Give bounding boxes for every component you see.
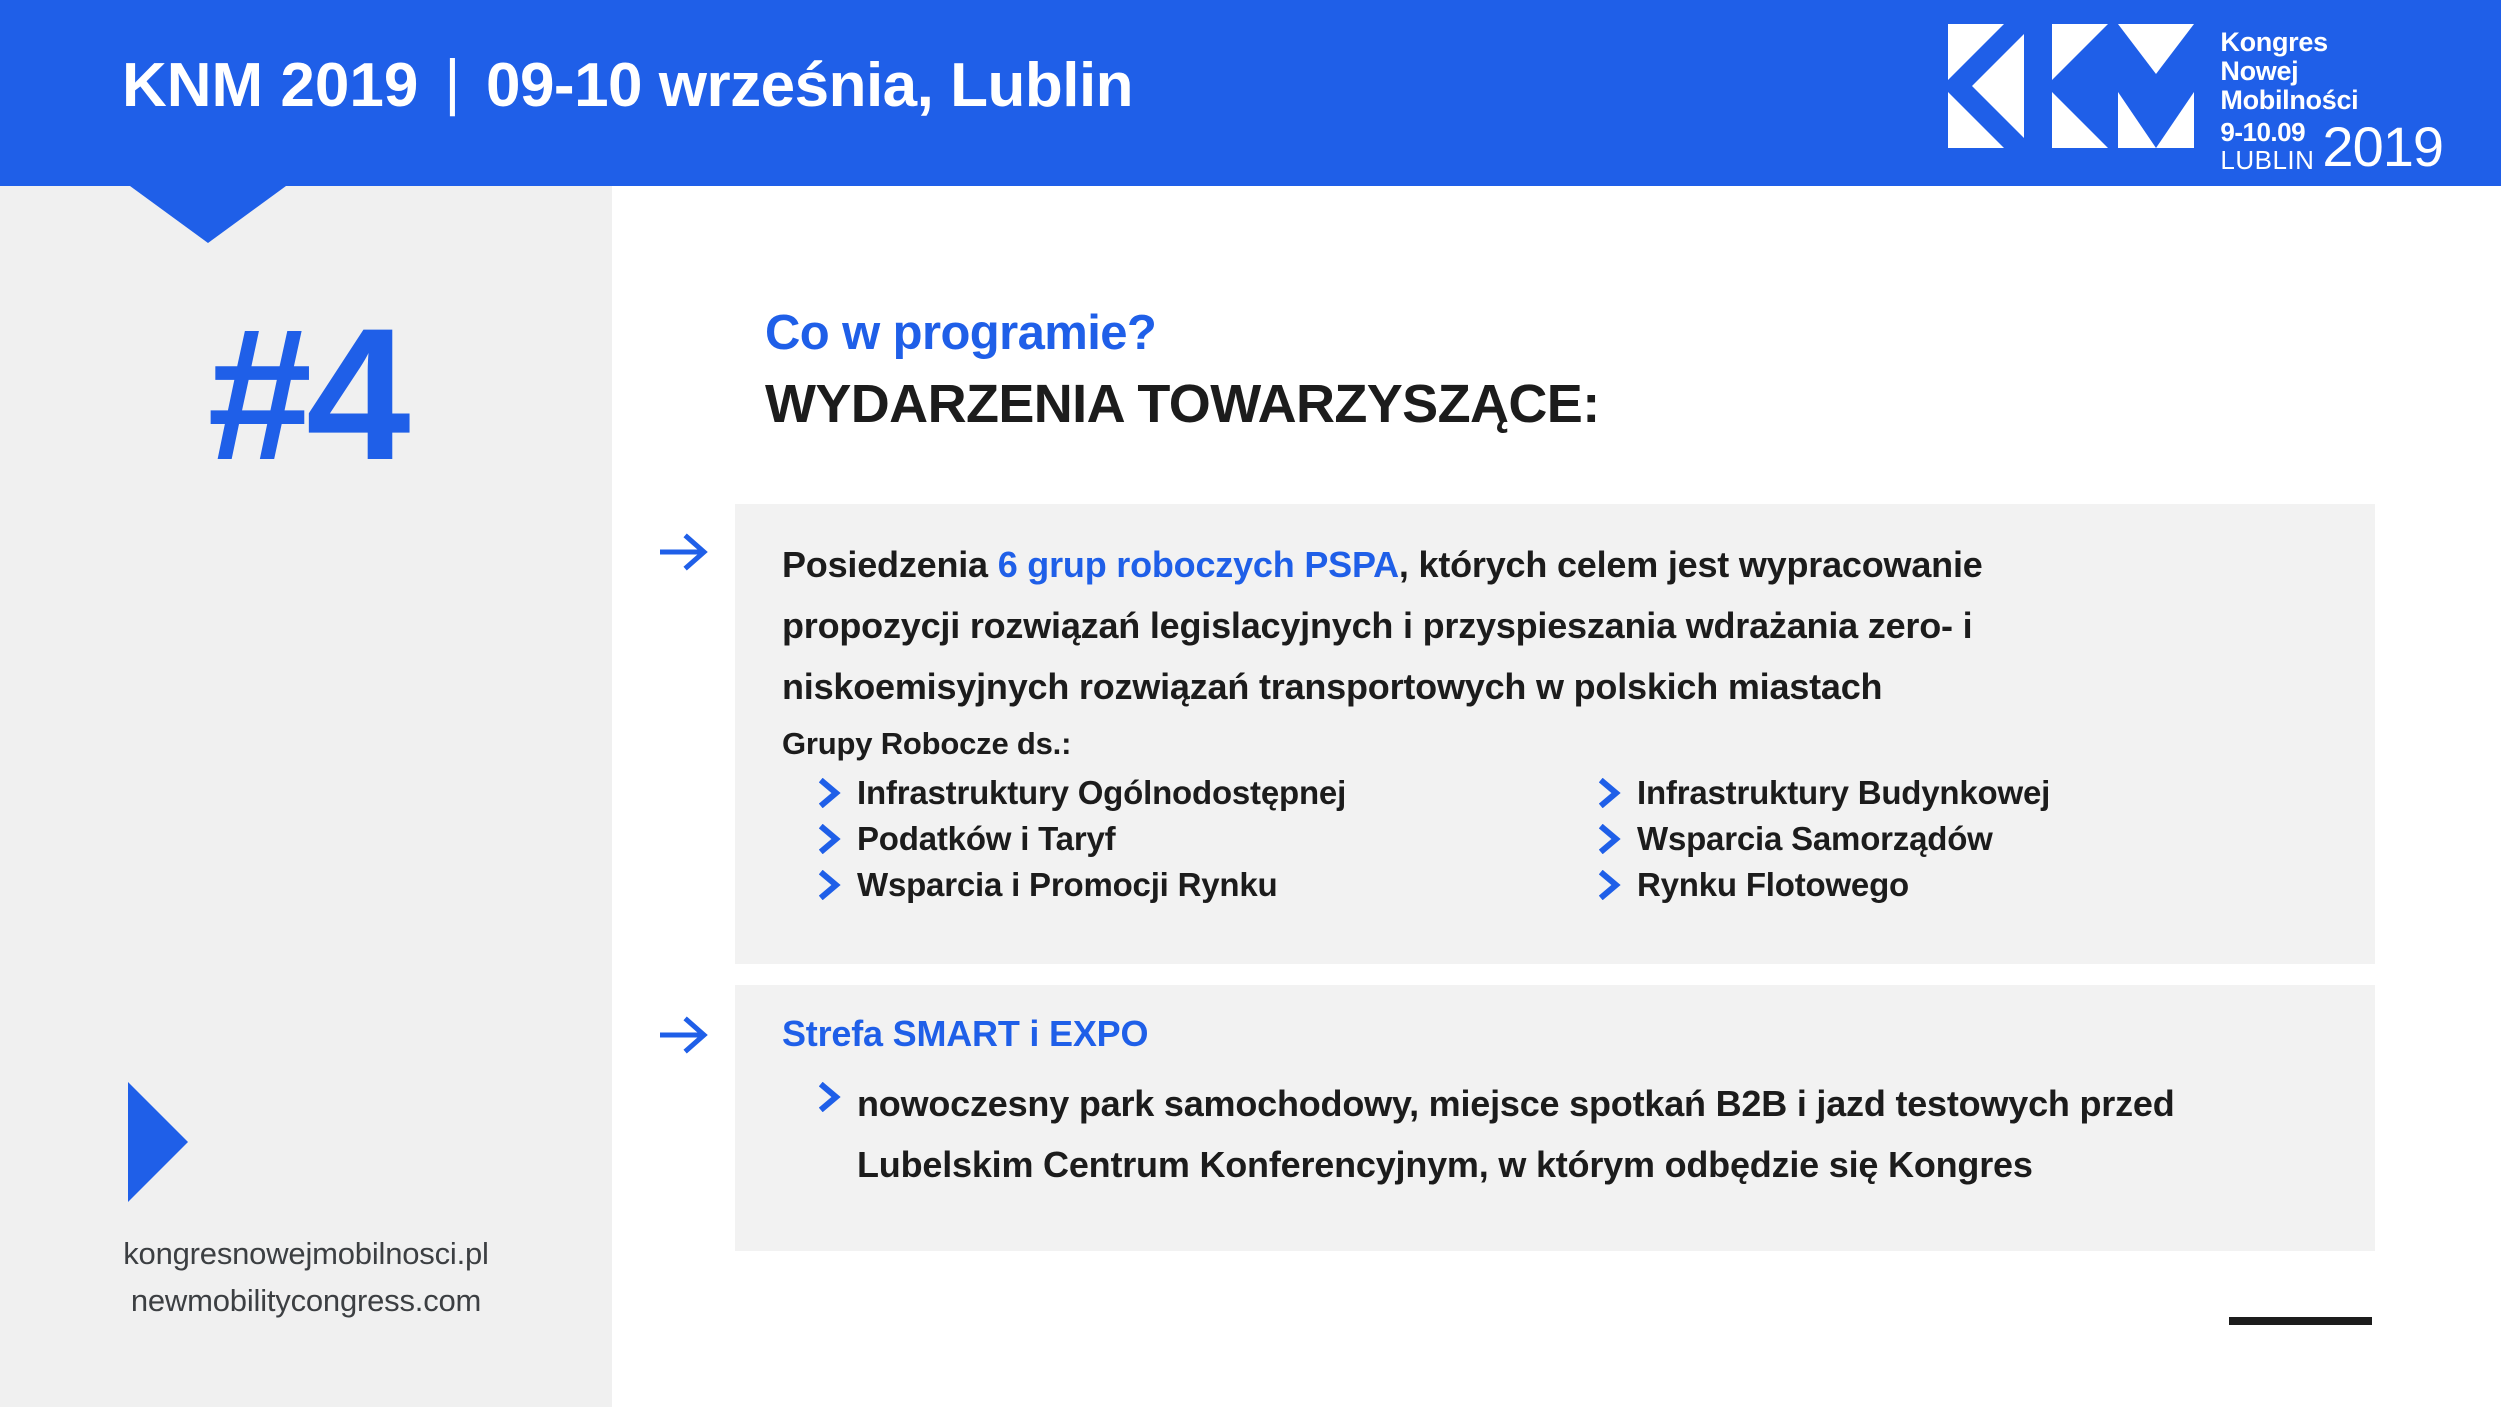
logo-m-bottom-right-triangle [2156, 92, 2194, 148]
sidebar-links: kongresnowejmobilnosci.pl newmobilitycon… [0, 1230, 612, 1324]
chevron-right-icon [813, 818, 847, 854]
logo-n-bottom-triangle [2052, 92, 2108, 148]
bottom-rule [2229, 1317, 2372, 1325]
panel1-lead-paragraph: Posiedzenia 6 grup roboczych PSPA, który… [782, 534, 2142, 717]
website-link-en[interactable]: newmobilitycongress.com [0, 1277, 612, 1324]
list-item: Infrastruktury Ogólnodostępnej [813, 772, 1553, 818]
panel-smart-expo: Strefa SMART i EXPO nowoczesny park samo… [735, 985, 2375, 1251]
list-item: Rynku Flotowego [1593, 864, 2333, 910]
groups-grid: Infrastruktury Ogólnodostępnej Infrastru… [813, 772, 2333, 910]
logo-wordmark: Kongres Nowej Mobilności 9-10.09 LUBLIN … [2220, 24, 2443, 173]
chevron-right-icon [813, 864, 847, 900]
header-bar: KNM 2019|09-10 września, Lublin Kongres … [0, 0, 2501, 186]
group-label: Wsparcia i Promocji Rynku [857, 864, 1277, 906]
header-dates-location: 09-10 września, Lublin [486, 51, 1133, 120]
logo-year: 2019 [2322, 121, 2443, 173]
logo-date: 9-10.09 [2220, 119, 2314, 145]
panel2-heading: Strefa SMART i EXPO [782, 1013, 1148, 1055]
sidebar-panel [0, 0, 612, 1407]
slide-number: #4 [0, 300, 612, 488]
website-link-pl[interactable]: kongresnowejmobilnosci.pl [0, 1230, 612, 1277]
arrow-right-icon [658, 1015, 710, 1055]
chevron-right-icon [1593, 818, 1627, 854]
list-item: Wsparcia Samorządów [1593, 818, 2333, 864]
logo-date-city: 9-10.09 LUBLIN [2220, 119, 2314, 173]
logo-n-top-triangle [2052, 24, 2108, 80]
logo-m-top-triangle [2118, 24, 2194, 74]
lead-highlight: 6 grup roboczych PSPA [998, 544, 1399, 585]
panel-working-groups: Posiedzenia 6 grup roboczych PSPA, który… [735, 504, 2375, 964]
group-label: Infrastruktury Ogólnodostępnej [857, 772, 1346, 814]
content-title-block: Co w programie? WYDARZENIA TOWARZYSZĄCE: [765, 305, 1600, 435]
logo-city: LUBLIN [2220, 147, 2314, 173]
page-title: WYDARZENIA TOWARZYSZĄCE: [765, 373, 1600, 435]
logo-k-middle-triangle [1972, 34, 2024, 138]
groups-label: Grupy Robocze ds.: [782, 726, 1071, 762]
group-label: Infrastruktury Budynkowej [1637, 772, 2050, 814]
panel2-item-text: nowoczesny park samochodowy, miejsce spo… [857, 1073, 2333, 1195]
group-label: Podatków i Taryf [857, 818, 1115, 860]
logo-date-year-block: 9-10.09 LUBLIN 2019 [2220, 119, 2443, 173]
list-item: Podatków i Taryf [813, 818, 1553, 864]
knm-logo: Kongres Nowej Mobilności 9-10.09 LUBLIN … [1948, 24, 2443, 154]
group-label: Rynku Flotowego [1637, 864, 1909, 906]
header-separator: | [444, 47, 460, 118]
header-title: KNM 2019|09-10 września, Lublin [122, 50, 1133, 121]
logo-line-mobilnosci: Mobilności [2220, 86, 2443, 115]
chevron-right-icon [1593, 772, 1627, 808]
play-triangle-icon [128, 1082, 188, 1202]
section-eyebrow: Co w programie? [765, 305, 1600, 361]
list-item: nowoczesny park samochodowy, miejsce spo… [813, 1073, 2333, 1195]
header-event-code: KNM 2019 [122, 51, 418, 120]
knm-geometric-logo-icon [1948, 24, 2198, 148]
list-item: Wsparcia i Promocji Rynku [813, 864, 1553, 910]
slide-root: KNM 2019|09-10 września, Lublin Kongres … [0, 0, 2501, 1407]
group-label: Wsparcia Samorządów [1637, 818, 1993, 860]
logo-line-nowej: Nowej [2220, 57, 2443, 86]
arrow-right-icon [658, 532, 710, 572]
chevron-right-icon [813, 772, 847, 808]
chevron-right-icon [813, 1073, 847, 1112]
lead-part1: Posiedzenia [782, 544, 998, 585]
logo-line-kongres: Kongres [2220, 28, 2443, 57]
header-notch-triangle [130, 186, 286, 243]
chevron-right-icon [1593, 864, 1627, 900]
logo-m-bottom-left-triangle [2118, 92, 2156, 148]
list-item: Infrastruktury Budynkowej [1593, 772, 2333, 818]
